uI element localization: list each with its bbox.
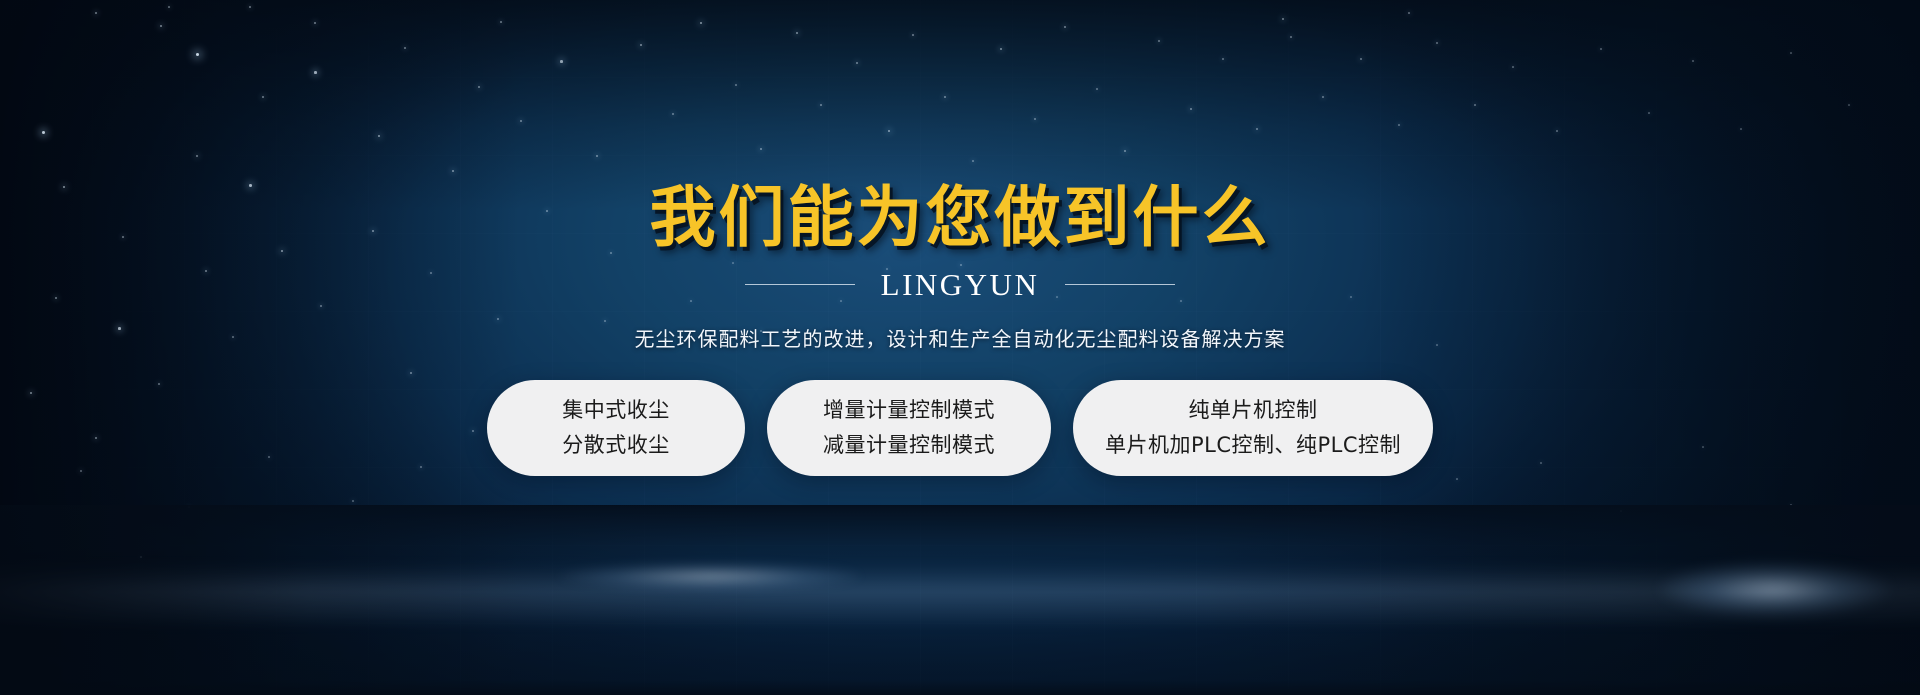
star-dot (1456, 478, 1458, 480)
feature-card-line-2: 分散式收尘 (562, 435, 670, 456)
brand-subtitle: LINGYUN (881, 267, 1040, 303)
banner-content: 我们能为您做到什么 LINGYUN 无尘环保配料工艺的改进，设计和生产全自动化无… (0, 0, 1920, 476)
star-dot (352, 500, 354, 502)
feature-card-line-1: 增量计量控制模式 (823, 400, 995, 421)
divider-line-left (745, 284, 855, 285)
feature-card-line-1: 纯单片机控制 (1189, 400, 1318, 421)
feature-card[interactable]: 纯单片机控制 单片机加PLC控制、纯PLC控制 (1073, 380, 1433, 476)
feature-card-line-1: 集中式收尘 (562, 400, 670, 421)
divider-line-right (1065, 284, 1175, 285)
mesh-side-fade (0, 505, 1920, 695)
feature-card-list: 集中式收尘 分散式收尘 增量计量控制模式 减量计量控制模式 纯单片机控制 单片机… (0, 380, 1920, 476)
feature-card[interactable]: 集中式收尘 分散式收尘 (487, 380, 745, 476)
feature-card-line-2: 单片机加PLC控制、纯PLC控制 (1105, 435, 1401, 456)
brand-subtitle-row: LINGYUN (0, 267, 1920, 303)
hero-banner: 我们能为您做到什么 LINGYUN 无尘环保配料工艺的改进，设计和生产全自动化无… (0, 0, 1920, 695)
feature-card[interactable]: 增量计量控制模式 减量计量控制模式 (767, 380, 1051, 476)
particle-mesh-floor (0, 505, 1920, 695)
feature-card-line-2: 减量计量控制模式 (823, 435, 995, 456)
page-title: 我们能为您做到什么 (0, 0, 1920, 255)
banner-description: 无尘环保配料工艺的改进，设计和生产全自动化无尘配料设备解决方案 (0, 323, 1920, 352)
